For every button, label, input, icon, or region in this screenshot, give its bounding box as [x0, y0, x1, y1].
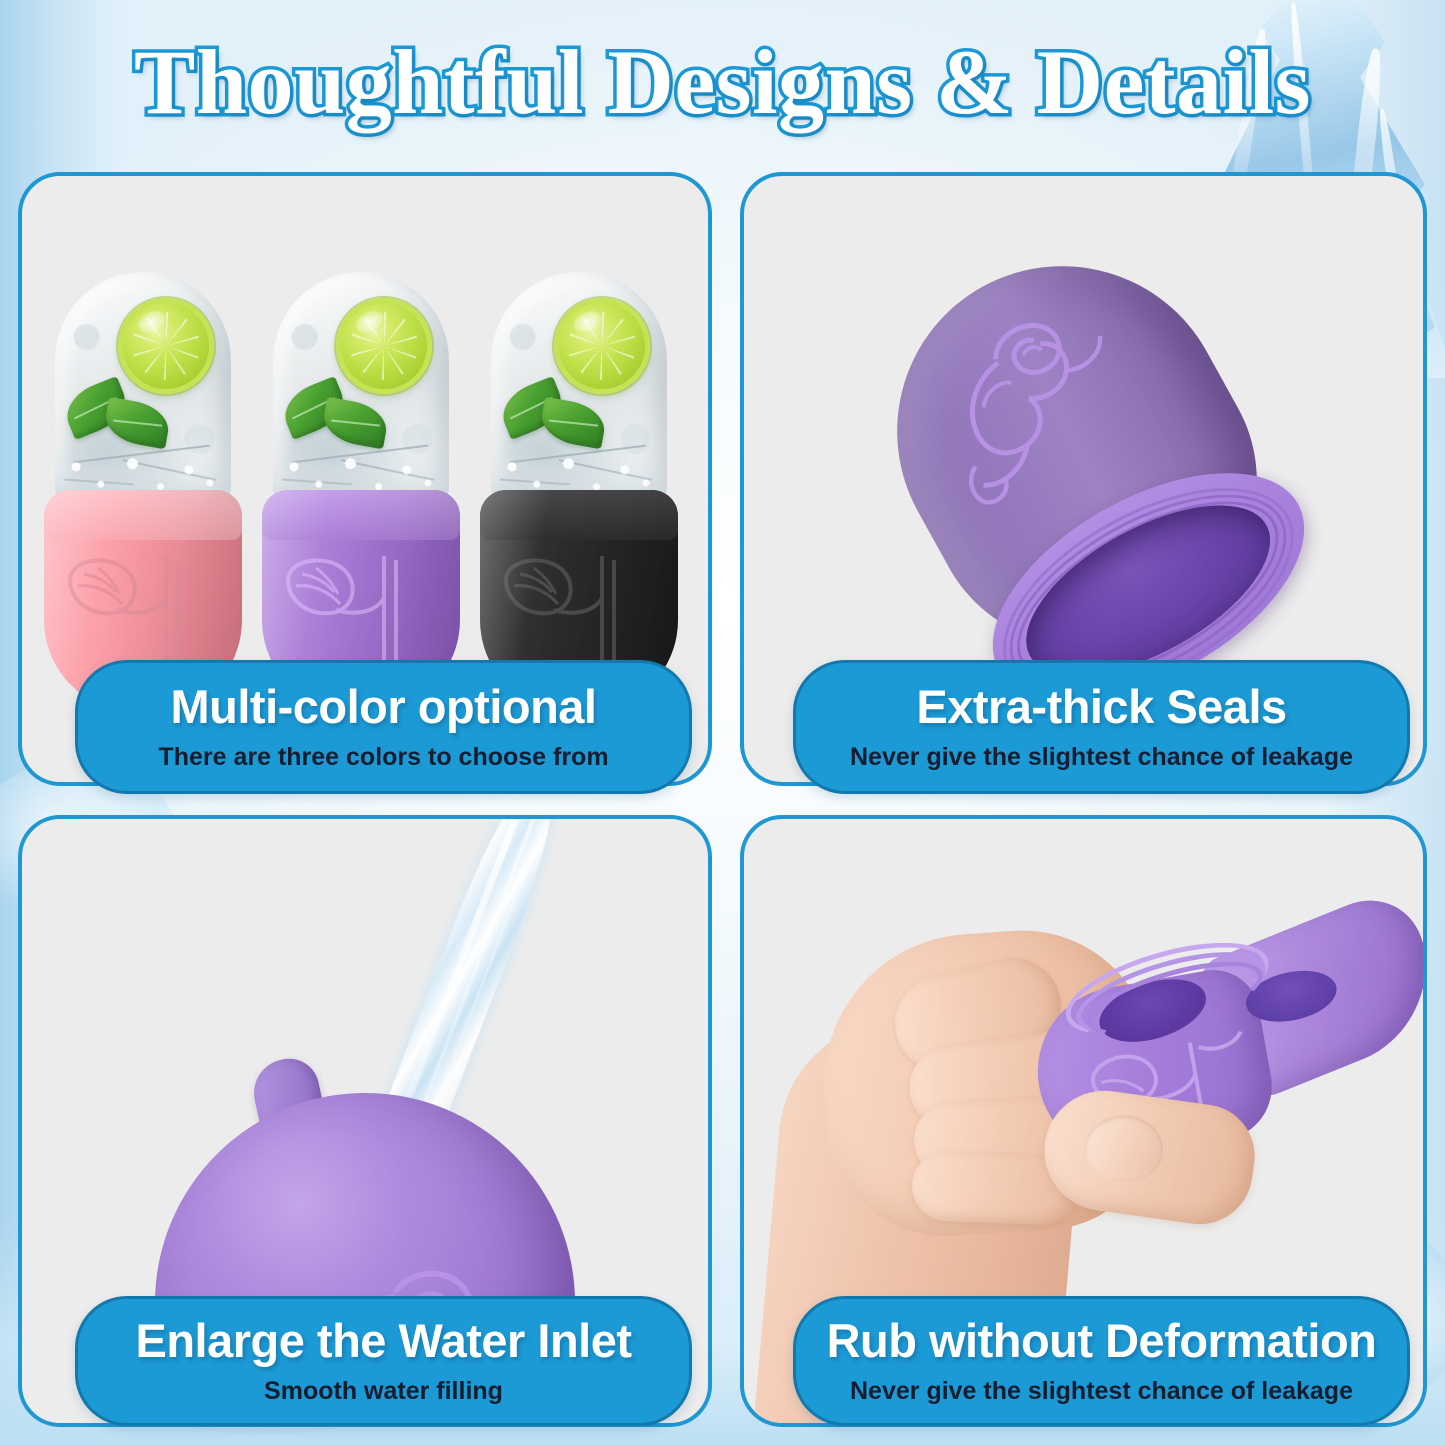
mint-leaves-icon: [65, 376, 169, 450]
page-title: Thoughtful Designs & Details: [0, 34, 1445, 131]
ice-roller-purple: [262, 272, 460, 712]
leaf-vein: [331, 420, 380, 427]
ice-roller-pink: [44, 272, 242, 712]
mint-leaves-icon: [501, 376, 605, 450]
ice-dome-purple: [273, 272, 449, 504]
cup-lip: [480, 490, 678, 540]
caption-multi-color: Multi-color optional There are three col…: [75, 660, 692, 794]
ice-roller-black: [480, 272, 678, 712]
caption-title: Rub without Deformation: [827, 1316, 1377, 1365]
caption-enlarge-water-inlet: Enlarge the Water Inlet Smooth water fil…: [75, 1296, 692, 1426]
ice-dome-black: [491, 272, 667, 504]
caption-title: Multi-color optional: [171, 682, 597, 731]
caption-title: Extra-thick Seals: [916, 682, 1286, 731]
silicone-seal-cup: [837, 207, 1329, 734]
mint-leaves-icon: [283, 376, 387, 450]
leaf-vein: [549, 420, 598, 427]
caption-subtitle: Never give the slightest chance of leaka…: [850, 1378, 1353, 1406]
cup-lip: [44, 490, 242, 540]
cup-lip: [262, 490, 460, 540]
ice-dome-pink: [55, 272, 231, 504]
caption-subtitle: There are three colors to choose from: [158, 744, 608, 772]
caption-title: Enlarge the Water Inlet: [135, 1316, 631, 1365]
leaf-vein: [113, 420, 162, 427]
caption-subtitle: Never give the slightest chance of leaka…: [850, 744, 1353, 772]
feature-panel-grid: [18, 172, 1427, 1427]
caption-subtitle: Smooth water filling: [264, 1378, 503, 1406]
thumbnail: [1084, 1114, 1164, 1183]
caption-rub-without-deformation: Rub without Deformation Never give the s…: [793, 1296, 1410, 1426]
caption-extra-thick-seals: Extra-thick Seals Never give the slighte…: [793, 660, 1410, 794]
page-title-text: Thoughtful Designs & Details: [0, 34, 1445, 131]
